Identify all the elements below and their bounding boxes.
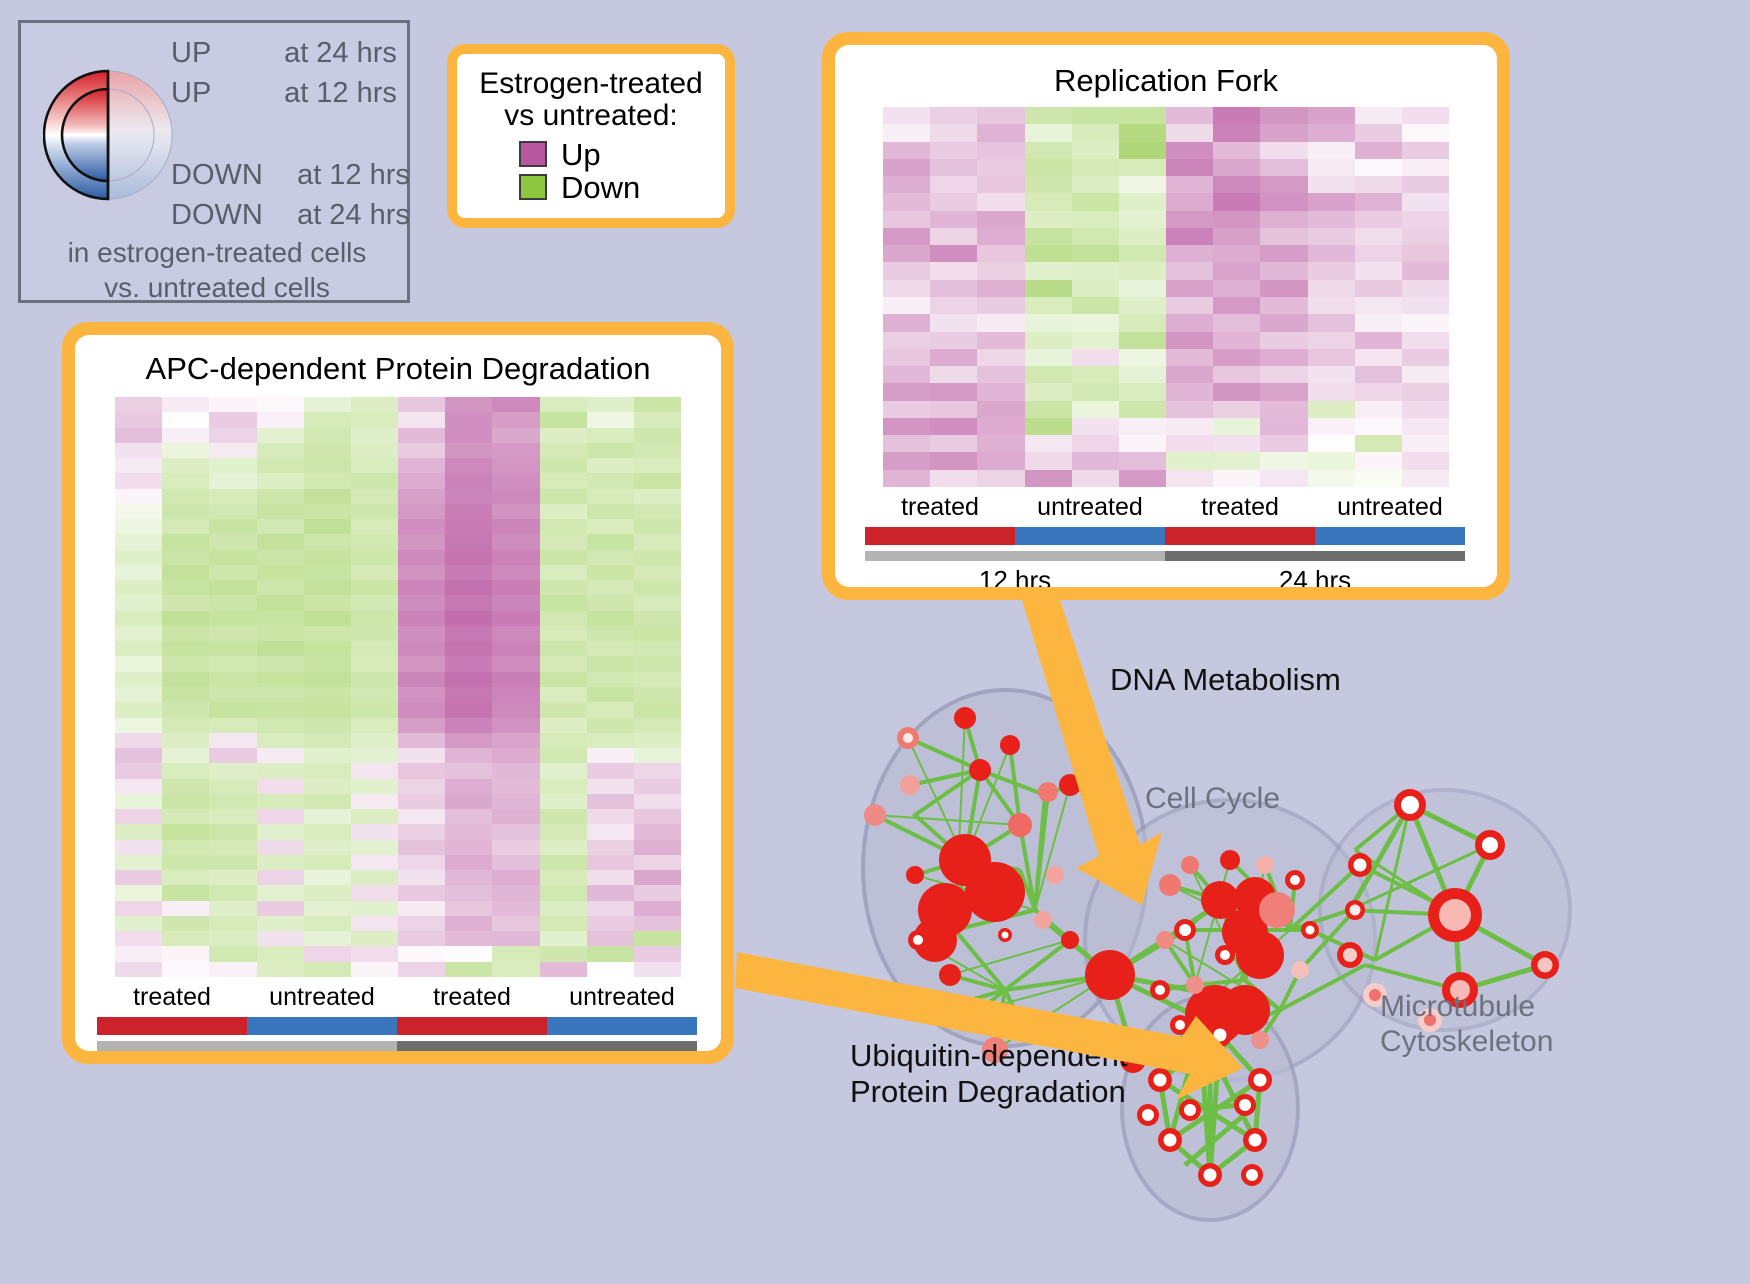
group-bar-0 bbox=[865, 527, 1015, 545]
heatmap-cell bbox=[257, 718, 304, 733]
heatmap-cell bbox=[257, 931, 304, 946]
heatmap-cell bbox=[304, 718, 351, 733]
time-label-1: 24 hrs bbox=[1165, 565, 1465, 587]
heatmap-cell bbox=[115, 962, 162, 977]
heatmap-cell bbox=[209, 443, 256, 458]
heatmap-cell bbox=[1355, 107, 1402, 124]
heatmap-cell bbox=[587, 931, 634, 946]
heatmap-cell bbox=[977, 435, 1024, 452]
network-label-dna-metabolism: DNA Metabolism bbox=[1110, 662, 1341, 698]
heatmap-cell bbox=[634, 794, 681, 809]
heatmap-cell bbox=[115, 855, 162, 870]
heatmap-cell bbox=[1119, 435, 1166, 452]
heatmap-cell bbox=[634, 412, 681, 427]
heatmap-cell bbox=[304, 550, 351, 565]
heatmap-cell bbox=[540, 946, 587, 961]
heatmap-cell bbox=[1402, 280, 1449, 297]
heatmap-cell bbox=[977, 470, 1024, 487]
heatmap-cell bbox=[1166, 366, 1213, 383]
heatmap-cell bbox=[445, 458, 492, 473]
heatmap-cell bbox=[162, 855, 209, 870]
heatmap-cell bbox=[1308, 401, 1355, 418]
heatmap-cell bbox=[351, 656, 398, 671]
key-row-0-word: UP bbox=[171, 39, 276, 68]
heatmap-cell bbox=[1213, 124, 1260, 141]
heatmap-cell bbox=[115, 779, 162, 794]
legend-label-up: Up bbox=[561, 139, 601, 170]
heatmap-cell bbox=[587, 397, 634, 412]
heatmap-cell bbox=[930, 193, 977, 210]
heatmap-cell bbox=[162, 580, 209, 595]
heatmap-cell bbox=[445, 809, 492, 824]
time-labels-replication-fork: 12 hrs24 hrs bbox=[865, 565, 1465, 587]
heatmap-cell bbox=[634, 626, 681, 641]
heatmap-cell bbox=[445, 519, 492, 534]
heatmap-cell bbox=[1072, 193, 1119, 210]
heatmap-cell bbox=[1308, 418, 1355, 435]
heatmap-cell bbox=[587, 580, 634, 595]
heatmap-cell bbox=[1213, 418, 1260, 435]
heatmap-cell bbox=[398, 931, 445, 946]
heatmap-cell bbox=[1119, 297, 1166, 314]
heatmap-cell bbox=[115, 550, 162, 565]
heatmap-cell bbox=[540, 794, 587, 809]
heatmap-cell bbox=[1213, 159, 1260, 176]
key-row-2-time: at 12 hrs bbox=[297, 161, 410, 190]
heatmap-cell bbox=[115, 534, 162, 549]
heatmap-cell bbox=[492, 794, 539, 809]
heatmap-cell bbox=[1308, 245, 1355, 262]
heatmap-cell bbox=[634, 702, 681, 717]
heatmap-cell bbox=[1355, 280, 1402, 297]
heatmap-cell bbox=[398, 672, 445, 687]
heatmap-cell bbox=[883, 262, 930, 279]
heatmap-cell bbox=[162, 885, 209, 900]
heatmap-cell bbox=[492, 931, 539, 946]
heatmap-cell bbox=[587, 595, 634, 610]
heatmap-cell bbox=[209, 534, 256, 549]
heatmap-cell bbox=[209, 962, 256, 977]
heatmap-cell bbox=[304, 397, 351, 412]
heatmap-cell bbox=[587, 809, 634, 824]
heatmap-cell bbox=[540, 397, 587, 412]
heatmap-cell bbox=[540, 840, 587, 855]
heatmap-cell bbox=[1166, 262, 1213, 279]
heatmap-cell bbox=[587, 534, 634, 549]
heatmap-cell bbox=[492, 534, 539, 549]
heatmap-cell bbox=[1119, 418, 1166, 435]
heatmap-cell bbox=[1355, 228, 1402, 245]
heatmap-cell bbox=[304, 565, 351, 580]
heatmap-cell bbox=[1166, 159, 1213, 176]
heatmap-cell bbox=[883, 245, 930, 262]
heatmap-cell bbox=[445, 641, 492, 656]
heatmap-cell bbox=[1308, 470, 1355, 487]
heatmap-cell bbox=[445, 687, 492, 702]
heatmap-cell bbox=[209, 824, 256, 839]
heatmap-cell bbox=[162, 489, 209, 504]
heatmap-cell bbox=[257, 534, 304, 549]
heatmap-cell bbox=[115, 489, 162, 504]
heatmap-cell bbox=[351, 733, 398, 748]
heatmap-cell bbox=[304, 733, 351, 748]
heatmap-cell bbox=[304, 672, 351, 687]
heatmap-cell bbox=[445, 611, 492, 626]
heatmap-cell bbox=[445, 916, 492, 931]
heatmap-cell bbox=[930, 142, 977, 159]
heatmap-cell bbox=[1072, 245, 1119, 262]
heatmap-cell bbox=[304, 794, 351, 809]
key-row-3-word: DOWN bbox=[171, 201, 289, 230]
heatmap-cell bbox=[492, 840, 539, 855]
heatmap-cell bbox=[351, 534, 398, 549]
heatmap-cell bbox=[115, 794, 162, 809]
heatmap-cell bbox=[162, 641, 209, 656]
heatmap-cell bbox=[398, 550, 445, 565]
heatmap-cell bbox=[162, 656, 209, 671]
heatmap-cell bbox=[1213, 349, 1260, 366]
heatmap-cell bbox=[492, 611, 539, 626]
heatmap-cell bbox=[492, 489, 539, 504]
heatmap-cell bbox=[492, 565, 539, 580]
heatmap-cell bbox=[1119, 107, 1166, 124]
heatmap-cell bbox=[492, 595, 539, 610]
heatmap-cell bbox=[351, 962, 398, 977]
heatmap-cell bbox=[1355, 159, 1402, 176]
heatmap-cell bbox=[930, 159, 977, 176]
heatmap-cell bbox=[115, 840, 162, 855]
heatmap-cell bbox=[883, 297, 930, 314]
heatmap-cell bbox=[930, 314, 977, 331]
heatmap-cell bbox=[209, 809, 256, 824]
heatmap-cell bbox=[1355, 383, 1402, 400]
heatmap-cell bbox=[883, 332, 930, 349]
group-label-1: untreated bbox=[247, 983, 397, 1012]
heatmap-cell bbox=[977, 124, 1024, 141]
heatmap-cell bbox=[257, 962, 304, 977]
heatmap-cell bbox=[540, 534, 587, 549]
heatmap-cell bbox=[587, 962, 634, 977]
heatmap-cell bbox=[492, 519, 539, 534]
heatmap-cell bbox=[1213, 176, 1260, 193]
heatmap-cell bbox=[1072, 159, 1119, 176]
heatmap-cell bbox=[445, 779, 492, 794]
heatmap-cell bbox=[304, 702, 351, 717]
heatmap-cell bbox=[162, 565, 209, 580]
heatmap-cell bbox=[257, 672, 304, 687]
heatmap-cell bbox=[398, 809, 445, 824]
heatmap-cell bbox=[540, 458, 587, 473]
heatmap-cell bbox=[930, 470, 977, 487]
heatmap-cell bbox=[1119, 245, 1166, 262]
heatmap-cell bbox=[1355, 435, 1402, 452]
heatmap-cell bbox=[1402, 349, 1449, 366]
heatmap-cell bbox=[257, 916, 304, 931]
heatmap-cell bbox=[398, 641, 445, 656]
heatmap-cell bbox=[115, 946, 162, 961]
heatmap-cell bbox=[304, 504, 351, 519]
heatmap-cell bbox=[351, 672, 398, 687]
heatmap-cell bbox=[1355, 124, 1402, 141]
heatmap-cell bbox=[930, 383, 977, 400]
heatmap-cell bbox=[351, 550, 398, 565]
heatmap-cell bbox=[492, 580, 539, 595]
time-color-bar-apc bbox=[97, 1041, 697, 1051]
heatmap-cell bbox=[930, 211, 977, 228]
heatmap-cell bbox=[351, 702, 398, 717]
heatmap-cell bbox=[115, 824, 162, 839]
heatmap-cell bbox=[162, 702, 209, 717]
heatmap-cell bbox=[540, 443, 587, 458]
heatmap-cell bbox=[115, 870, 162, 885]
heatmap-cell bbox=[587, 733, 634, 748]
heatmap-cell bbox=[634, 748, 681, 763]
heatmap-cell bbox=[930, 245, 977, 262]
heatmap-cell bbox=[209, 885, 256, 900]
heatmap-cell bbox=[1402, 332, 1449, 349]
heatmap-cell bbox=[115, 565, 162, 580]
heatmap-cell bbox=[115, 931, 162, 946]
heatmap-cell bbox=[1308, 280, 1355, 297]
heatmap-cell bbox=[1166, 228, 1213, 245]
heatmap-cell bbox=[1260, 142, 1307, 159]
heatmap-cell bbox=[492, 809, 539, 824]
heatmap-cell bbox=[1119, 470, 1166, 487]
heatmap-cell bbox=[1213, 193, 1260, 210]
heatmap-cell bbox=[209, 595, 256, 610]
heatmap-cell bbox=[1119, 332, 1166, 349]
color-key-diagram bbox=[43, 35, 173, 235]
heatmap-cell bbox=[351, 916, 398, 931]
heatmap-cell bbox=[445, 504, 492, 519]
heatmap-cell bbox=[1260, 159, 1307, 176]
heatmap-cell bbox=[587, 885, 634, 900]
heatmap-cell bbox=[634, 824, 681, 839]
heatmap-cell bbox=[115, 412, 162, 427]
heatmap-cell bbox=[492, 656, 539, 671]
heatmap-cell bbox=[304, 809, 351, 824]
heatmap-cell bbox=[1119, 314, 1166, 331]
heatmap-cell bbox=[1119, 262, 1166, 279]
heatmap-cell bbox=[1213, 228, 1260, 245]
heatmap-cell bbox=[162, 412, 209, 427]
heatmap-cell bbox=[304, 580, 351, 595]
heatmap-cell bbox=[115, 580, 162, 595]
heatmap-cell bbox=[162, 748, 209, 763]
heatmap-cell bbox=[304, 687, 351, 702]
heatmap-cell bbox=[257, 748, 304, 763]
heatmap-cell bbox=[1166, 470, 1213, 487]
heatmap-cell bbox=[492, 428, 539, 443]
heatmap-cell bbox=[209, 550, 256, 565]
heatmap-cell bbox=[634, 733, 681, 748]
heatmap-cell bbox=[1402, 470, 1449, 487]
heatmap-cell bbox=[398, 458, 445, 473]
heatmap-cell bbox=[1119, 211, 1166, 228]
heatmap-cell bbox=[634, 565, 681, 580]
heatmap-cell bbox=[587, 824, 634, 839]
heatmap-cell bbox=[587, 458, 634, 473]
heatmap-cell bbox=[304, 443, 351, 458]
heatmap-cell bbox=[977, 193, 1024, 210]
heatmap-cell bbox=[304, 962, 351, 977]
heatmap-cell bbox=[492, 412, 539, 427]
heatmap-cell bbox=[209, 901, 256, 916]
heatmap-cell bbox=[209, 580, 256, 595]
heatmap-cell bbox=[540, 855, 587, 870]
heatmap-cell bbox=[1072, 142, 1119, 159]
heatmap-cell bbox=[445, 534, 492, 549]
heatmap-cell bbox=[257, 687, 304, 702]
heatmap-cell bbox=[587, 946, 634, 961]
heatmap-cell bbox=[445, 718, 492, 733]
heatmap-cell bbox=[209, 763, 256, 778]
heatmap-cell bbox=[351, 473, 398, 488]
heatmap-cell bbox=[398, 443, 445, 458]
legend-title: Estrogen-treated vs untreated: bbox=[467, 68, 715, 133]
heatmap-cell bbox=[1025, 366, 1072, 383]
heatmap-cell bbox=[162, 733, 209, 748]
heatmap-cell bbox=[209, 397, 256, 412]
heatmap-cell bbox=[587, 641, 634, 656]
heatmap-cell bbox=[1355, 418, 1402, 435]
heatmap-cell bbox=[209, 718, 256, 733]
heatmap-cell bbox=[1355, 193, 1402, 210]
heatmap-cell bbox=[587, 763, 634, 778]
heatmap-cell bbox=[209, 656, 256, 671]
heatmap-cell bbox=[445, 794, 492, 809]
heatmap-cell bbox=[634, 595, 681, 610]
heatmap-cell bbox=[1166, 245, 1213, 262]
heatmap-cell bbox=[257, 519, 304, 534]
heatmap-cell bbox=[634, 763, 681, 778]
heatmap-cell bbox=[351, 885, 398, 900]
heatmap-cell bbox=[304, 428, 351, 443]
heatmap-cell bbox=[398, 779, 445, 794]
heatmap-cell bbox=[351, 840, 398, 855]
heatmap-cell bbox=[351, 397, 398, 412]
heatmap-cell bbox=[1166, 435, 1213, 452]
heatmap-cell bbox=[540, 824, 587, 839]
heatmap-cell bbox=[1119, 176, 1166, 193]
heatmap-cell bbox=[634, 718, 681, 733]
heatmap-cell bbox=[1308, 383, 1355, 400]
heatmap-cell bbox=[257, 443, 304, 458]
group-label-3: untreated bbox=[547, 983, 697, 1012]
heatmap-cell bbox=[209, 626, 256, 641]
key-row-0-time: at 24 hrs bbox=[284, 39, 397, 68]
heatmap-cell bbox=[398, 397, 445, 412]
heatmap-cell bbox=[1308, 124, 1355, 141]
heatmap-cell bbox=[162, 443, 209, 458]
group-bar-0 bbox=[97, 1017, 247, 1035]
heatmap-cell bbox=[304, 779, 351, 794]
heatmap-cell bbox=[883, 366, 930, 383]
heatmap-cell bbox=[304, 626, 351, 641]
heatmap-cell bbox=[257, 504, 304, 519]
heatmap-cell bbox=[930, 401, 977, 418]
heatmap-cell bbox=[930, 435, 977, 452]
heatmap-cell bbox=[304, 885, 351, 900]
heatmap-cell bbox=[257, 824, 304, 839]
heatmap-cell bbox=[1166, 107, 1213, 124]
panel-apc-degradation-inner: APC-dependent Protein Degradation treate… bbox=[75, 335, 721, 1051]
heatmap-cell bbox=[1119, 366, 1166, 383]
heatmap-cell bbox=[1119, 142, 1166, 159]
heatmap-cell bbox=[883, 314, 930, 331]
heatmap-cell bbox=[1402, 124, 1449, 141]
heatmap-cell bbox=[977, 142, 1024, 159]
heatmap-cell bbox=[1308, 314, 1355, 331]
group-label-2: treated bbox=[397, 983, 547, 1012]
heatmap-cell bbox=[351, 626, 398, 641]
heatmap-cell bbox=[883, 176, 930, 193]
heatmap-cell bbox=[398, 565, 445, 580]
heatmap-cell bbox=[1119, 401, 1166, 418]
heatmap-cell bbox=[445, 473, 492, 488]
heatmap-cell bbox=[930, 349, 977, 366]
heatmap-cell bbox=[634, 840, 681, 855]
heatmap-cell bbox=[445, 962, 492, 977]
heatmap-cell bbox=[1402, 107, 1449, 124]
heatmap-cell bbox=[1308, 211, 1355, 228]
heatmap-cell bbox=[1025, 245, 1072, 262]
heatmap-cell bbox=[1308, 142, 1355, 159]
heatmap-cell bbox=[1260, 176, 1307, 193]
heatmap-cell bbox=[977, 366, 1024, 383]
heatmap-cell bbox=[1402, 262, 1449, 279]
heatmap-cell bbox=[162, 718, 209, 733]
heatmap-replication-fork bbox=[883, 107, 1449, 487]
heatmap-cell bbox=[257, 611, 304, 626]
heatmap-cell bbox=[1355, 211, 1402, 228]
heatmap-cell bbox=[162, 870, 209, 885]
network-diagram: DNA Metabolism Cell Cycle Microtubule Cy… bbox=[790, 610, 1750, 1279]
heatmap-cell bbox=[634, 885, 681, 900]
heatmap-cell bbox=[883, 470, 930, 487]
heatmap-cell bbox=[162, 611, 209, 626]
heatmap-cell bbox=[1072, 383, 1119, 400]
heatmap-cell bbox=[977, 228, 1024, 245]
heatmap-cell bbox=[634, 656, 681, 671]
time-label-0: 12 hrs bbox=[865, 565, 1165, 587]
heatmap-cell bbox=[634, 870, 681, 885]
heatmap-cell bbox=[540, 412, 587, 427]
heatmap-cell bbox=[1119, 124, 1166, 141]
legend-item-up: Up bbox=[519, 139, 715, 170]
heatmap-cell bbox=[634, 779, 681, 794]
network-label-cell-cycle: Cell Cycle bbox=[1145, 782, 1280, 817]
heatmap-cell bbox=[1025, 193, 1072, 210]
heatmap-cell bbox=[883, 142, 930, 159]
heatmap-cell bbox=[1308, 159, 1355, 176]
heatmap-cell bbox=[115, 809, 162, 824]
heatmap-cell bbox=[1260, 124, 1307, 141]
heatmap-cell bbox=[540, 916, 587, 931]
time-bar-1 bbox=[1165, 551, 1465, 561]
heatmap-cell bbox=[1025, 142, 1072, 159]
heatmap-cell bbox=[1025, 470, 1072, 487]
heatmap-cell bbox=[162, 504, 209, 519]
heatmap-cell bbox=[634, 504, 681, 519]
heatmap-cell bbox=[1213, 332, 1260, 349]
group-bar-3 bbox=[547, 1017, 697, 1035]
heatmap-apc-degradation bbox=[115, 397, 681, 977]
heatmap-cell bbox=[540, 580, 587, 595]
heatmap-cell bbox=[209, 840, 256, 855]
heatmap-cell bbox=[257, 779, 304, 794]
heatmap-cell bbox=[351, 443, 398, 458]
